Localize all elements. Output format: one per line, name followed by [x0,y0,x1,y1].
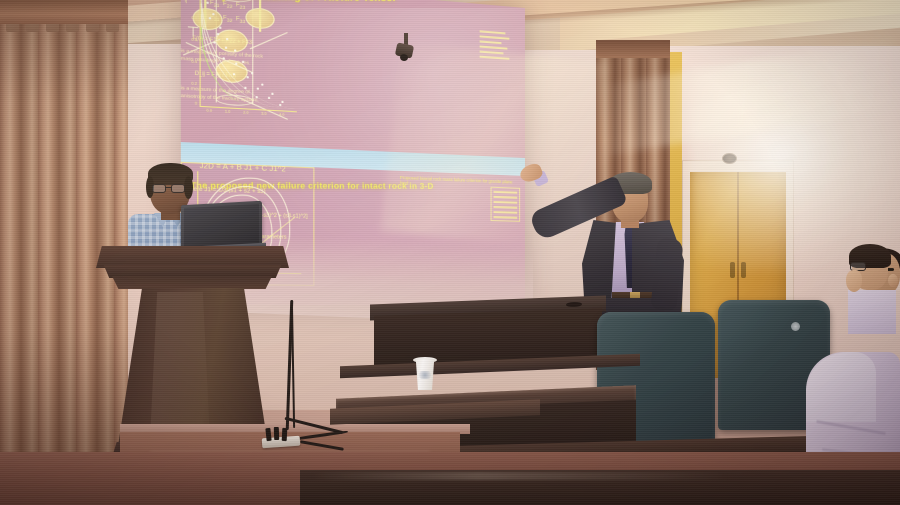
curtain-rod-left [0,0,128,24]
podium-desktop [96,246,289,268]
audience-1-hand [846,270,862,292]
audience-1-shirt [848,290,896,334]
bench-highlight [310,472,730,480]
presenter-glasses-left-lens [152,184,166,193]
laptop-lid-back [184,204,259,247]
chair-button-icon [791,322,800,331]
presenter-hair-right [184,176,193,199]
slide-top: Physical meaning of Fracture Tensor [181,0,525,166]
lecture-hall-scene: Physical meaning of Fracture Tensor [0,0,900,505]
curtain-left-shading [0,0,128,470]
presenter-glasses-bridge [166,187,171,188]
curtain-rod-right [596,40,670,58]
cup-logo [418,371,432,379]
power-plug-3 [282,428,288,441]
podium-neck [112,276,272,289]
yield-chart-legend [491,187,521,222]
audience-member-hand-on-cheek [838,248,900,334]
decay-chart-legend [480,30,520,67]
presenter-glasses-right-lens [171,184,185,193]
power-plug-2 [274,427,279,440]
podium-highlight [150,292,210,440]
